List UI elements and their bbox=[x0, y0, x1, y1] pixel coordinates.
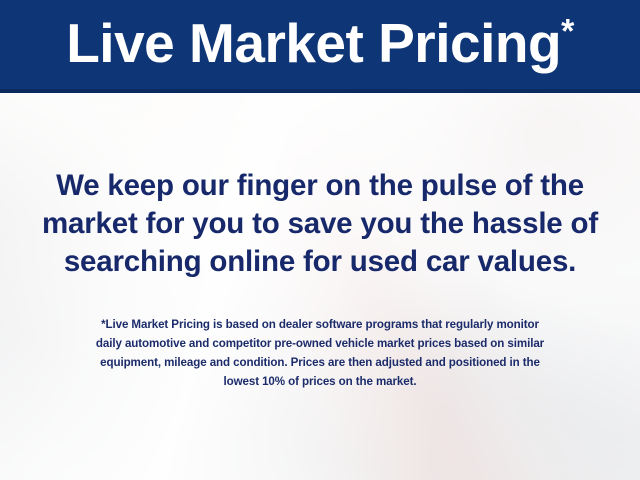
page-title-text: Live Market Pricing bbox=[66, 12, 561, 74]
fineprint-line-2: daily automotive and competitor pre-owne… bbox=[28, 334, 612, 353]
fineprint-disclaimer: *Live Market Pricing is based on dealer … bbox=[28, 315, 612, 391]
page-title: Live Market Pricing* bbox=[66, 16, 574, 74]
headline-line-2: market for you to save you the hassle of bbox=[26, 205, 614, 243]
headline-block: We keep our finger on the pulse of the m… bbox=[26, 167, 614, 281]
fineprint-line-1: *Live Market Pricing is based on dealer … bbox=[28, 315, 612, 334]
headline-line-3: searching online for used car values. bbox=[26, 243, 614, 281]
live-market-pricing-promo-card: Live Market Pricing* We keep our finger … bbox=[0, 0, 640, 480]
title-asterisk: * bbox=[561, 12, 574, 50]
fineprint-line-4: lowest 10% of prices on the market. bbox=[28, 372, 612, 391]
headline-line-1: We keep our finger on the pulse of the bbox=[26, 167, 614, 205]
fineprint-line-3: equipment, mileage and condition. Prices… bbox=[28, 353, 612, 372]
header-banner: Live Market Pricing* bbox=[0, 0, 640, 93]
content-area: We keep our finger on the pulse of the m… bbox=[0, 93, 640, 480]
